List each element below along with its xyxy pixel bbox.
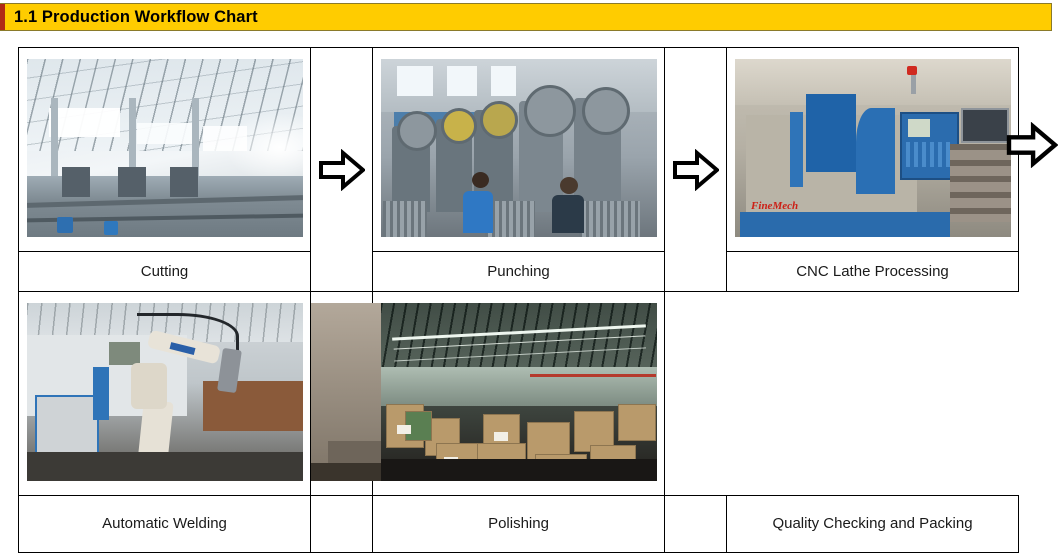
workflow-photo-cell-cutting xyxy=(19,48,311,252)
workflow-photo-cell-cnc: FineMech xyxy=(727,48,1019,252)
table-row xyxy=(19,292,1019,496)
workflow-step-label-automatic-welding: Automatic Welding xyxy=(19,496,311,553)
workflow-photo-cell-automatic-welding xyxy=(19,292,311,496)
right-block-arrow-icon xyxy=(673,149,719,191)
cnc-brand-logo: FineMech xyxy=(751,200,798,212)
photo-blue-cnc-machine: FineMech xyxy=(735,59,1011,237)
workflow-arrow-cell-1 xyxy=(311,48,373,292)
right-block-arrow-icon xyxy=(1006,122,1058,168)
workflow-photo-cell-quality-checking-packing xyxy=(373,292,665,496)
right-block-arrow-icon xyxy=(319,149,365,191)
table-row: Automatic Welding Polishing Quality Chec… xyxy=(19,496,1019,553)
workflow-step-label-polishing: Polishing xyxy=(373,496,665,553)
section-header: 1.1 Production Workflow Chart xyxy=(0,3,1052,31)
workflow-photo-cell-punching xyxy=(373,48,665,252)
table-row: FineMech xyxy=(19,48,1019,252)
page-title: 1.1 Production Workflow Chart xyxy=(14,8,258,27)
photo-welding-robot-arm xyxy=(27,303,303,481)
production-workflow-table: FineMech Cutting Punching CNC Lathe Proc… xyxy=(18,47,1019,553)
workflow-step-label-cutting: Cutting xyxy=(19,252,311,292)
workflow-step-label-quality-checking-and-packing: Quality Checking and Packing xyxy=(727,496,1019,553)
workflow-step-label-cnc-lathe-processing: CNC Lathe Processing xyxy=(727,252,1019,292)
photo-warehouse-packed-cartons xyxy=(381,303,657,481)
section-header-accent-bar xyxy=(0,4,5,30)
photo-punch-press-shop xyxy=(381,59,657,237)
workflow-arrow-spacer-1 xyxy=(311,496,373,553)
workflow-arrow-spacer-2 xyxy=(665,496,727,553)
workflow-photo-cell-polishing xyxy=(311,292,373,496)
table-row: Cutting Punching CNC Lathe Processing xyxy=(19,252,1019,292)
workflow-arrow-cell-2 xyxy=(665,48,727,292)
workflow-step-label-punching: Punching xyxy=(373,252,665,292)
workflow-trailing-arrow xyxy=(1006,122,1060,170)
photo-factory-hall-cutting-line xyxy=(27,59,303,237)
